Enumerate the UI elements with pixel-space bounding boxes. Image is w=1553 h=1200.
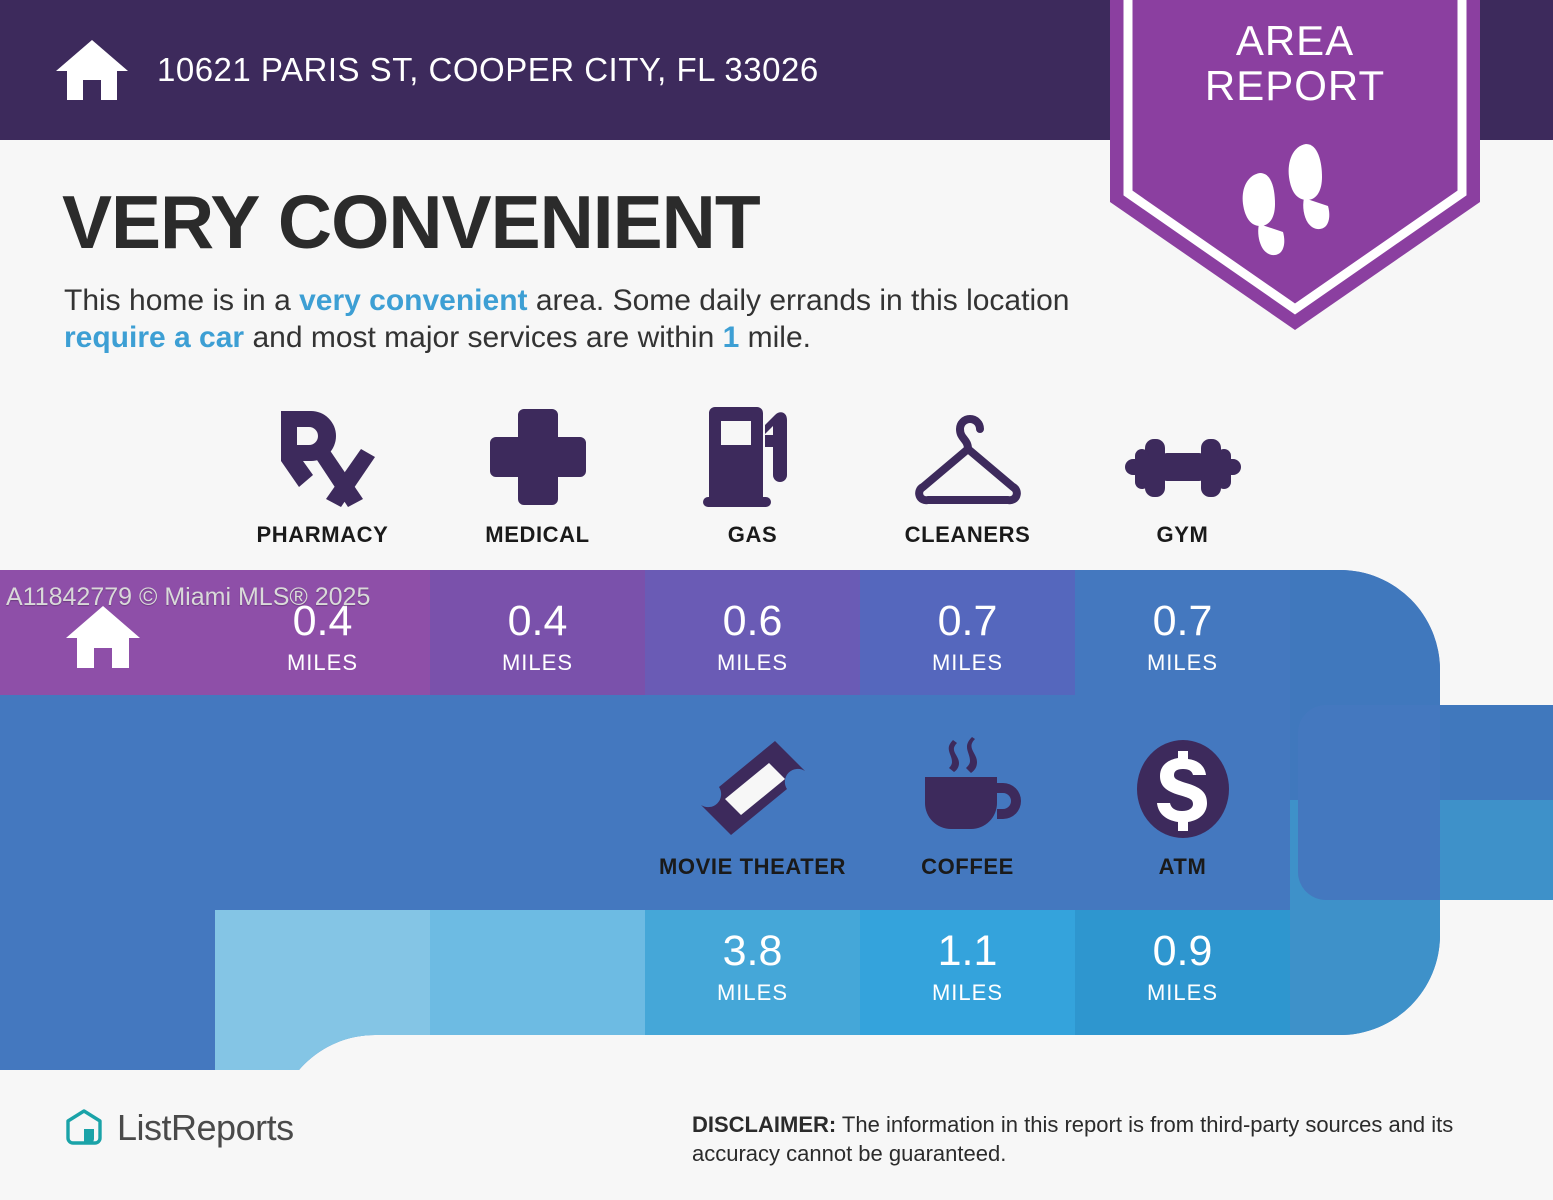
distance-value: 0.4: [430, 600, 645, 643]
distance-unit: MILES: [1075, 652, 1290, 674]
service-icon-cell: PHARMACY: [215, 408, 430, 548]
mls-watermark: A11842779 © Miami MLS® 2025: [6, 583, 370, 612]
distance-cell: 0.6MILES: [645, 600, 860, 674]
property-address: 10621 PARIS ST, COOPER CITY, FL 33026: [157, 51, 819, 89]
service-icon-cell: COFFEE: [860, 740, 1075, 880]
distance-cell: 3.8MILES: [645, 930, 860, 1004]
medical-cross-icon: [486, 413, 590, 509]
home-marker-icon: [64, 604, 142, 670]
gas-pump-icon: [701, 413, 805, 509]
distance-unit: MILES: [860, 982, 1075, 1004]
service-icon-cell: MEDICAL: [430, 408, 645, 548]
summary-highlight-1: very convenient: [299, 284, 527, 317]
distance-unit: MILES: [430, 652, 645, 674]
service-label: CLEANERS: [905, 522, 1031, 548]
movie-ticket-icon: [695, 745, 811, 841]
ribbon-seg-corner-top: [1290, 560, 1553, 695]
service-icon-cell: GYM: [1075, 408, 1290, 548]
distance-cell: 0.4MILES: [430, 600, 645, 674]
service-label: GYM: [1157, 522, 1209, 548]
summary-part-1: This home is in a: [64, 284, 299, 317]
listreports-house-icon: [63, 1107, 105, 1149]
service-icon-cell: CLEANERS: [860, 408, 1075, 548]
distance-value: 3.8: [645, 930, 860, 973]
atm-dollar-icon: [1133, 745, 1233, 841]
listreports-wordmark: ListReports: [117, 1107, 294, 1149]
distance-cell: 1.1MILES: [860, 930, 1075, 1004]
service-icon-cell: GAS: [645, 408, 860, 548]
distance-value: 0.9: [1075, 930, 1290, 973]
summary-text: This home is in a very convenient area. …: [64, 283, 1099, 356]
service-label: ATM: [1159, 854, 1207, 880]
rx-icon: [271, 413, 375, 509]
listreports-logo[interactable]: ListReports: [63, 1107, 294, 1149]
distance-value: 1.1: [860, 930, 1075, 973]
page-title: VERY CONVENIENT: [62, 185, 760, 260]
summary-part-4: mile.: [739, 321, 811, 354]
service-label: PHARMACY: [257, 522, 389, 548]
hanger-icon: [913, 413, 1023, 509]
ribbon-seg-tail-a: [215, 910, 430, 1045]
distance-cell: 0.7MILES: [1075, 600, 1290, 674]
distance-value: 0.6: [645, 600, 860, 643]
distance-cell: 0.7MILES: [860, 600, 1075, 674]
home-icon: [55, 38, 129, 102]
service-label: COFFEE: [921, 854, 1014, 880]
distance-unit: MILES: [1075, 982, 1290, 1004]
distance-value: 0.7: [1075, 600, 1290, 643]
service-icon-cell: MOVIE THEATER: [645, 740, 860, 880]
distance-unit: MILES: [215, 652, 430, 674]
ribbon-seg-tail-b: [430, 910, 645, 1045]
distance-value: 0.7: [860, 600, 1075, 643]
summary-part-2: area. Some daily errands in this locatio…: [528, 284, 1070, 317]
disclaimer-label: DISCLAIMER:: [692, 1112, 836, 1137]
disclaimer: DISCLAIMER: The information in this repo…: [692, 1110, 1502, 1168]
distance-unit: MILES: [645, 652, 860, 674]
summary-part-3: and most major services are within: [244, 321, 723, 354]
distance-unit: MILES: [860, 652, 1075, 674]
service-label: MOVIE THEATER: [659, 854, 846, 880]
summary-highlight-3: 1: [723, 321, 740, 354]
service-label: GAS: [728, 522, 777, 548]
area-report-badge: AREA REPORT: [1110, 0, 1480, 330]
dumbbell-icon: [1125, 413, 1241, 509]
summary-highlight-2: require a car: [64, 321, 244, 354]
distance-unit: MILES: [645, 982, 860, 1004]
coffee-cup-icon: [913, 745, 1023, 841]
service-label: MEDICAL: [485, 522, 589, 548]
service-icon-cell: ATM: [1075, 740, 1290, 880]
distance-cell: 0.9MILES: [1075, 930, 1290, 1004]
